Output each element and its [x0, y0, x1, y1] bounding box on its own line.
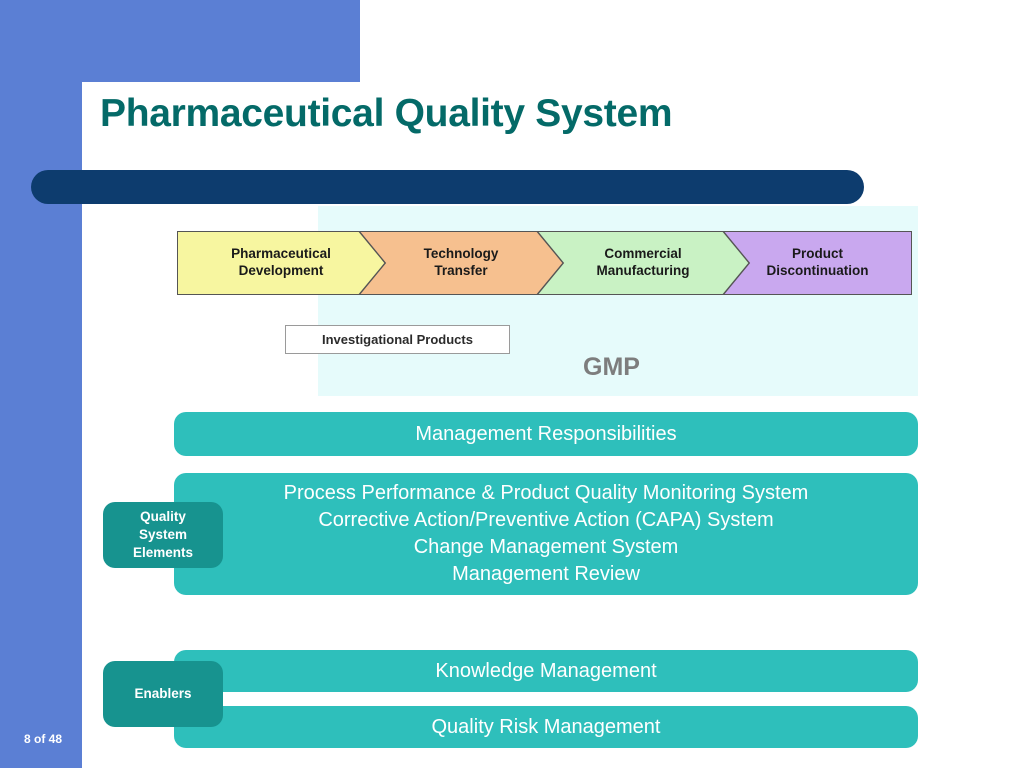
qse-line-1: Process Performance & Product Quality Mo…: [284, 480, 809, 507]
qse-line-3: Change Management System: [414, 534, 679, 561]
gmp-label: GMP: [583, 353, 640, 382]
tab-label-line3: Elements: [133, 544, 193, 562]
bar-knowledge-management: Knowledge Management: [174, 650, 918, 692]
stage-label-line2: Manufacturing: [591, 263, 696, 280]
tab-label-line2: System: [133, 526, 193, 544]
lifecycle-stage-product-discontinuation: Product Discontinuation: [723, 231, 912, 295]
stage-label-line1: Commercial: [591, 246, 696, 263]
stage-label-line2: Discontinuation: [761, 263, 875, 280]
lifecycle-stage-pharmaceutical-development: Pharmaceutical Development: [177, 231, 385, 295]
qse-line-2: Corrective Action/Preventive Action (CAP…: [318, 507, 773, 534]
tab-label-line1: Quality: [133, 508, 193, 526]
lifecycle-stage-commercial-manufacturing: Commercial Manufacturing: [537, 231, 749, 295]
stage-label-line1: Product: [761, 246, 875, 263]
page-title: Pharmaceutical Quality System: [100, 92, 672, 136]
stage-label-line1: Pharmaceutical: [225, 246, 337, 263]
stage-label-line1: Technology: [418, 246, 505, 263]
background-block-top: [0, 0, 360, 82]
bar-quality-system-elements: Process Performance & Product Quality Mo…: [174, 473, 918, 595]
bar-quality-risk-management: Quality Risk Management: [174, 706, 918, 748]
lifecycle-stage-technology-transfer: Technology Transfer: [359, 231, 563, 295]
stage-label-line2: Development: [225, 263, 337, 280]
page-number: 8 of 48: [24, 732, 62, 746]
tab-enablers: Enablers: [103, 661, 223, 727]
investigational-products-box: Investigational Products: [285, 325, 510, 354]
title-underline-bar: [31, 170, 864, 204]
stage-label-line2: Transfer: [418, 263, 505, 280]
tab-quality-system-elements: Quality System Elements: [103, 502, 223, 568]
lifecycle-arrow-row: Pharmaceutical Development Technology Tr…: [177, 231, 912, 295]
qse-line-4: Management Review: [452, 561, 640, 588]
bar-management-responsibilities: Management Responsibilities: [174, 412, 918, 456]
